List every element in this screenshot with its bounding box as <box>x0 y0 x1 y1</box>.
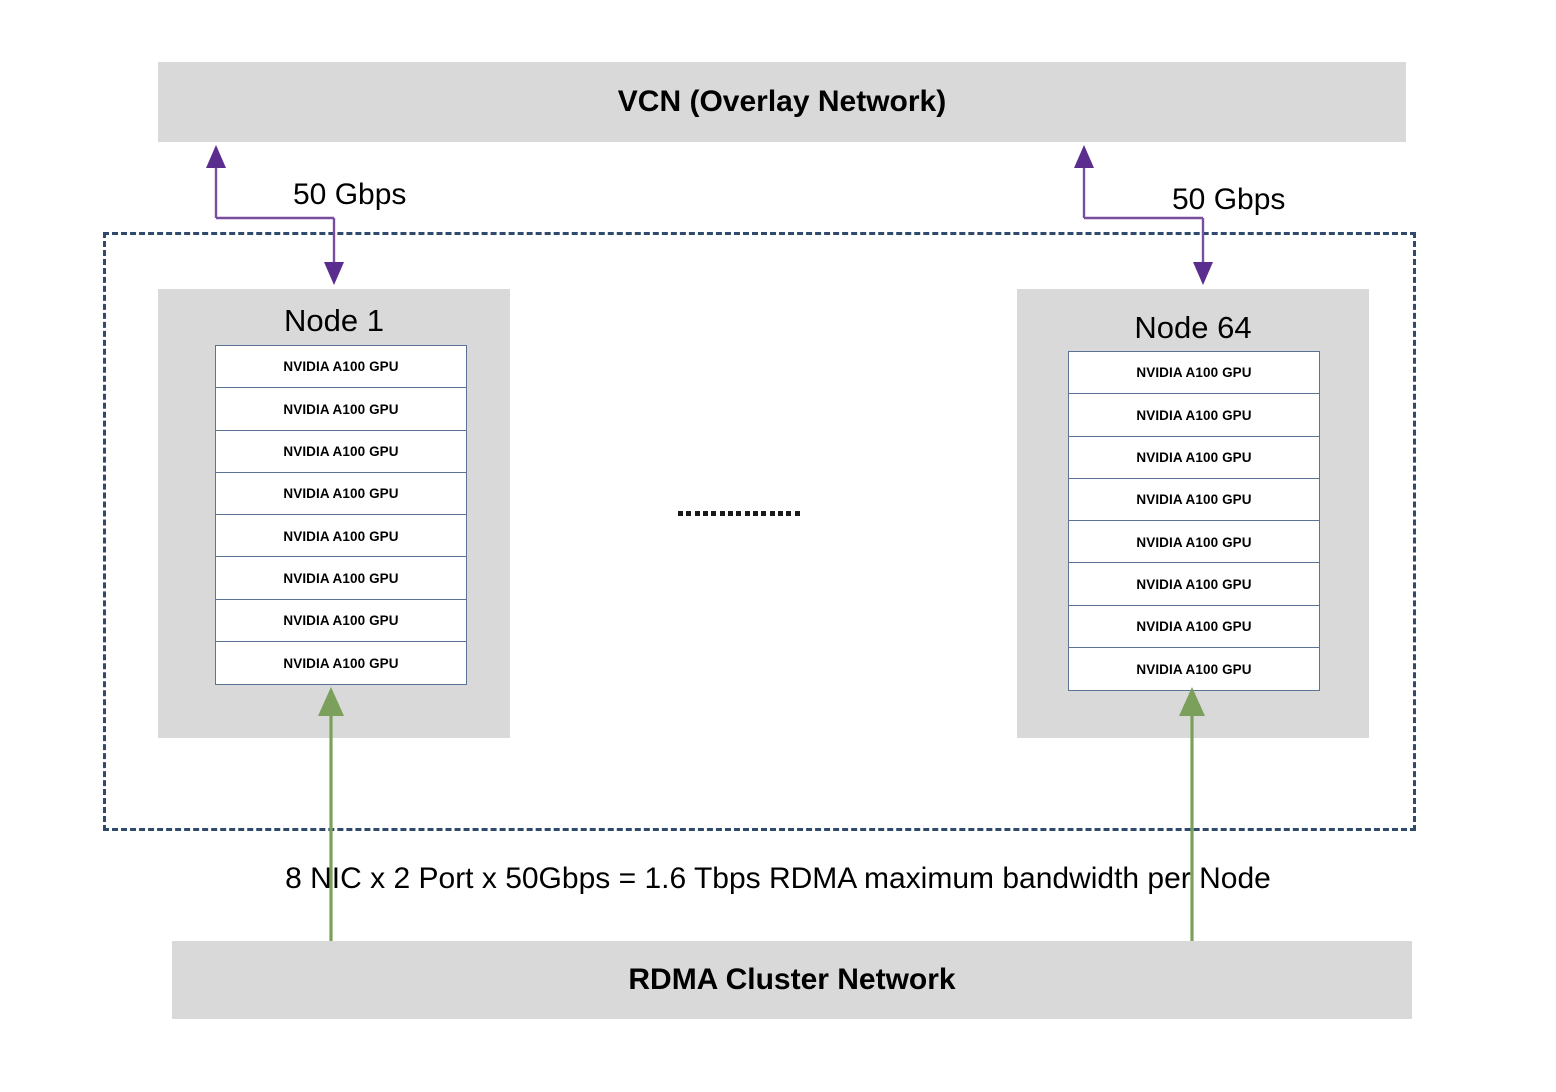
diagram-canvas: VCN (Overlay Network) Node 1 NVIDIA A100… <box>0 0 1556 1092</box>
gpu-card: NVIDIA A100 GPU <box>215 641 467 685</box>
gpu-card: NVIDIA A100 GPU <box>1068 520 1320 564</box>
vcn-overlay-network-label: VCN (Overlay Network) <box>618 85 946 119</box>
gpu-card: NVIDIA A100 GPU <box>215 345 467 389</box>
gpu-stack-node-1: NVIDIA A100 GPU NVIDIA A100 GPU NVIDIA A… <box>215 345 467 685</box>
gpu-card: NVIDIA A100 GPU <box>1068 647 1320 691</box>
node-title-node-1: Node 1 <box>158 303 510 339</box>
gpu-card: NVIDIA A100 GPU <box>215 430 467 474</box>
gpu-card: NVIDIA A100 GPU <box>215 556 467 600</box>
gpu-card: NVIDIA A100 GPU <box>1068 436 1320 480</box>
gpu-card: NVIDIA A100 GPU <box>215 599 467 643</box>
gpu-card: NVIDIA A100 GPU <box>1068 605 1320 649</box>
gpu-card: NVIDIA A100 GPU <box>1068 393 1320 437</box>
ellipsis-separator <box>678 500 800 526</box>
gpu-card: NVIDIA A100 GPU <box>1068 351 1320 395</box>
node-title-node-64: Node 64 <box>1017 310 1369 346</box>
bandwidth-label-node-64: 50 Gbps <box>1172 183 1285 217</box>
rdma-cluster-network-label: RDMA Cluster Network <box>628 963 955 997</box>
node-box-node-1: Node 1 NVIDIA A100 GPU NVIDIA A100 GPU N… <box>158 289 510 738</box>
rdma-bandwidth-caption: 8 NIC x 2 Port x 50Gbps = 1.6 Tbps RDMA … <box>0 862 1556 896</box>
gpu-card: NVIDIA A100 GPU <box>215 387 467 431</box>
node-box-node-64: Node 64 NVIDIA A100 GPU NVIDIA A100 GPU … <box>1017 289 1369 738</box>
vcn-overlay-network-bar: VCN (Overlay Network) <box>158 62 1406 142</box>
gpu-card: NVIDIA A100 GPU <box>215 472 467 516</box>
gpu-card: NVIDIA A100 GPU <box>1068 562 1320 606</box>
bandwidth-label-node-1: 50 Gbps <box>293 178 406 212</box>
rdma-cluster-network-bar: RDMA Cluster Network <box>172 941 1412 1019</box>
gpu-card: NVIDIA A100 GPU <box>215 514 467 558</box>
gpu-stack-node-64: NVIDIA A100 GPU NVIDIA A100 GPU NVIDIA A… <box>1068 351 1320 691</box>
gpu-card: NVIDIA A100 GPU <box>1068 478 1320 522</box>
